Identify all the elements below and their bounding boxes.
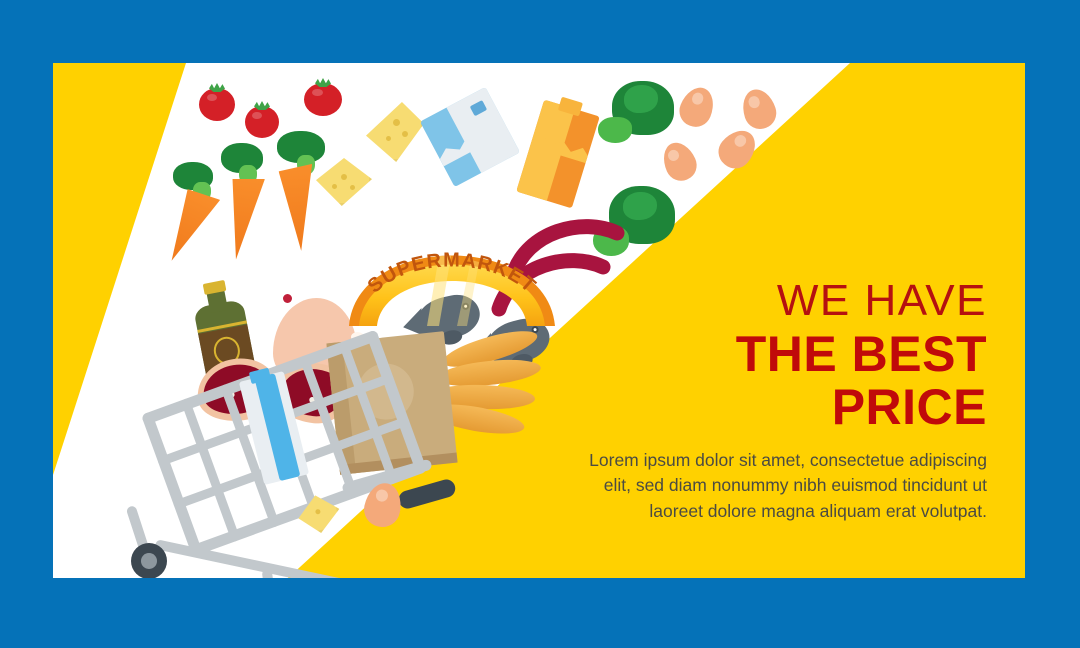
- cart-wheel-icon: [131, 543, 167, 578]
- tomato-icon: [245, 106, 279, 138]
- carrot-icon: [278, 158, 318, 252]
- supermarket-banner: SUPERMARKET WE HAVE THE BEST PRICE Lorem…: [0, 0, 1080, 648]
- tomato-icon: [304, 83, 342, 116]
- cheese-wedge-icon: [366, 102, 424, 162]
- cart-cheese-icon: [294, 490, 344, 537]
- shopping-cart-icon: [113, 373, 463, 578]
- body-paragraph: Lorem ipsum dolor sit amet, consectetue …: [567, 448, 987, 525]
- copy-block: WE HAVE THE BEST PRICE Lorem ipsum dolor…: [567, 278, 987, 525]
- cart-handle: [397, 477, 458, 510]
- banner-card: SUPERMARKET WE HAVE THE BEST PRICE Lorem…: [53, 63, 1025, 578]
- headline-secondary: THE BEST PRICE: [567, 328, 987, 434]
- supermarket-ribbon: SUPERMARKET: [343, 226, 561, 326]
- tomato-icon: [199, 88, 235, 121]
- headline-primary: WE HAVE: [567, 278, 987, 325]
